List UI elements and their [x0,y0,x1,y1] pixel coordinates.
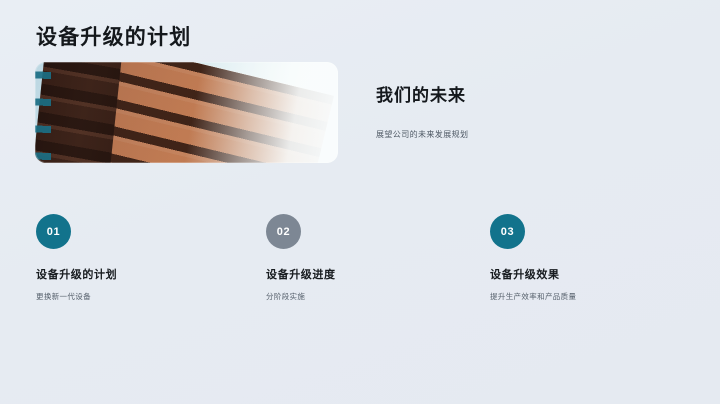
card-title-2: 设备升级进度 [266,268,476,282]
page-title: 设备升级的计划 [36,25,191,51]
card-subtitle-2: 分阶段实施 [266,291,476,302]
card-number-badge-2: 02 [266,214,301,249]
card-number-badge-1: 01 [36,214,71,249]
feature-card-2: 02 设备升级进度 分阶段实施 [266,214,476,303]
presentation-slide: 设备升级的计划 我们的未来 展望公司的未来发展规划 01 设备升级的计划 更换新… [0,0,720,404]
feature-card-1: 01 设备升级的计划 更换新一代设备 [36,214,246,303]
card-title-1: 设备升级的计划 [36,268,246,282]
hero-heading: 我们的未来 [376,85,666,107]
card-title-3: 设备升级效果 [490,268,700,282]
card-subtitle-1: 更换新一代设备 [36,291,246,302]
image-inner-ring [35,62,338,163]
hero-subtitle: 展望公司的未来发展规划 [376,129,666,141]
feature-card-3: 03 设备升级效果 提升生产效率和产品质量 [490,214,700,303]
feature-cards-row: 01 设备升级的计划 更换新一代设备 02 设备升级进度 分阶段实施 03 设备… [0,214,720,324]
card-number-badge-3: 03 [490,214,525,249]
hero-image [35,62,338,163]
hero-text-block: 我们的未来 展望公司的未来发展规划 [376,85,666,141]
card-subtitle-3: 提升生产效率和产品质量 [490,291,700,302]
building-facade-photo [35,62,338,163]
